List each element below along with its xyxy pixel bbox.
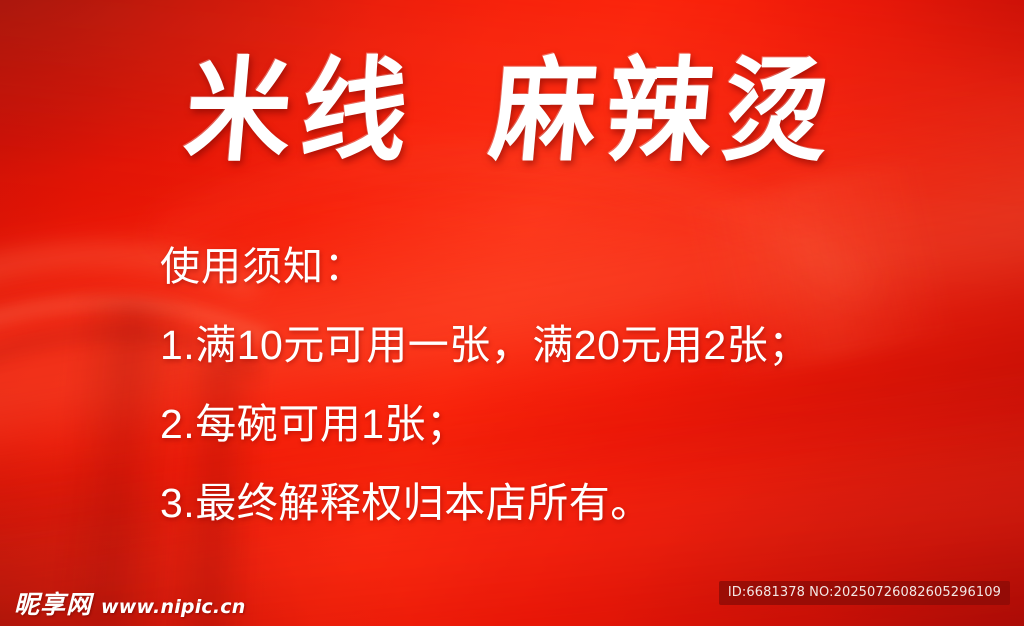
- notice-block: 使用须知： 1.满10元可用一张，满20元用2张； 2.每碗可用1张； 3.最终…: [160, 247, 950, 524]
- notice-item-1: 1.满10元可用一张，满20元用2张；: [160, 325, 950, 366]
- image-id-badge: ID:6681378 NO:20250726082605296109: [719, 581, 1010, 605]
- watermark-footer: 昵享网 www.nipic.cn ID:6681378 NO:202507260…: [0, 574, 1024, 626]
- poster-content: 米线 麻辣烫 使用须知： 1.满10元可用一张，满20元用2张； 2.每碗可用1…: [0, 0, 1024, 626]
- nipic-url: www.nipic.cn: [101, 598, 245, 617]
- notice-heading: 使用须知：: [160, 247, 950, 287]
- nipic-logo: 昵享网: [14, 592, 92, 617]
- poster-title: 米线 麻辣烫: [0, 50, 1024, 176]
- poster-canvas: 米线 麻辣烫 使用须知： 1.满10元可用一张，满20元用2张； 2.每碗可用1…: [0, 0, 1024, 626]
- watermark-brand: 昵享网 www.nipic.cn: [14, 592, 246, 617]
- notice-item-2: 2.每碗可用1张；: [160, 404, 950, 445]
- notice-item-3: 3.最终解释权归本店所有。: [160, 483, 950, 524]
